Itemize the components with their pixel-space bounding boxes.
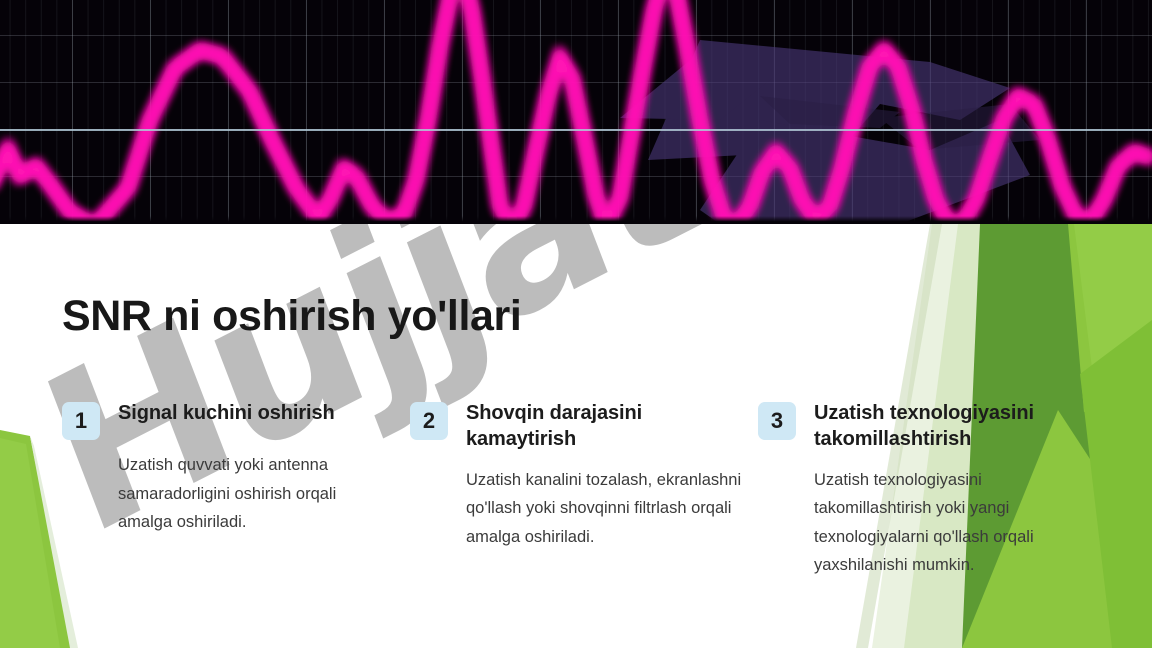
slide-content: SNR ni oshirish yo'llari 1 Signal kuchin… (0, 224, 1152, 648)
column-1-body: Uzatish quvvati yoki antenna samaradorli… (118, 451, 392, 537)
feature-column-1: 1 Signal kuchini oshirish Uzatish quvvat… (62, 224, 392, 537)
banner-image (0, 0, 1152, 224)
column-3-title: Uzatish texnologiyasini takomillashtiris… (814, 400, 1103, 453)
slide-root: Hujjat SNR ni oshirish yo'llari 1 Signal… (0, 0, 1152, 648)
feature-column-3: 3 Uzatish texnologiyasini takomillashtir… (758, 224, 1103, 580)
waveform-trace (0, 0, 1152, 224)
oscilloscope-baseline (0, 129, 1152, 131)
feature-column-2: 2 Shovqin darajasini kamaytirish Uzatish… (410, 224, 745, 551)
step-number-badge-3: 3 (758, 402, 796, 440)
column-2-title: Shovqin darajasini kamaytirish (466, 400, 745, 453)
column-3-header: 3 Uzatish texnologiyasini takomillashtir… (758, 400, 1103, 453)
banner-bottom-fade (0, 216, 1152, 224)
column-3-body: Uzatish texnologiyasini takomillashtiris… (814, 466, 1103, 580)
column-1-header: 1 Signal kuchini oshirish (62, 400, 392, 440)
column-2-header: 2 Shovqin darajasini kamaytirish (410, 400, 745, 453)
step-number-badge-1: 1 (62, 402, 100, 440)
step-number-badge-2: 2 (410, 402, 448, 440)
column-1-title: Signal kuchini oshirish (118, 400, 335, 426)
column-2-body: Uzatish kanalini tozalash, ekranlashni q… (466, 466, 745, 552)
